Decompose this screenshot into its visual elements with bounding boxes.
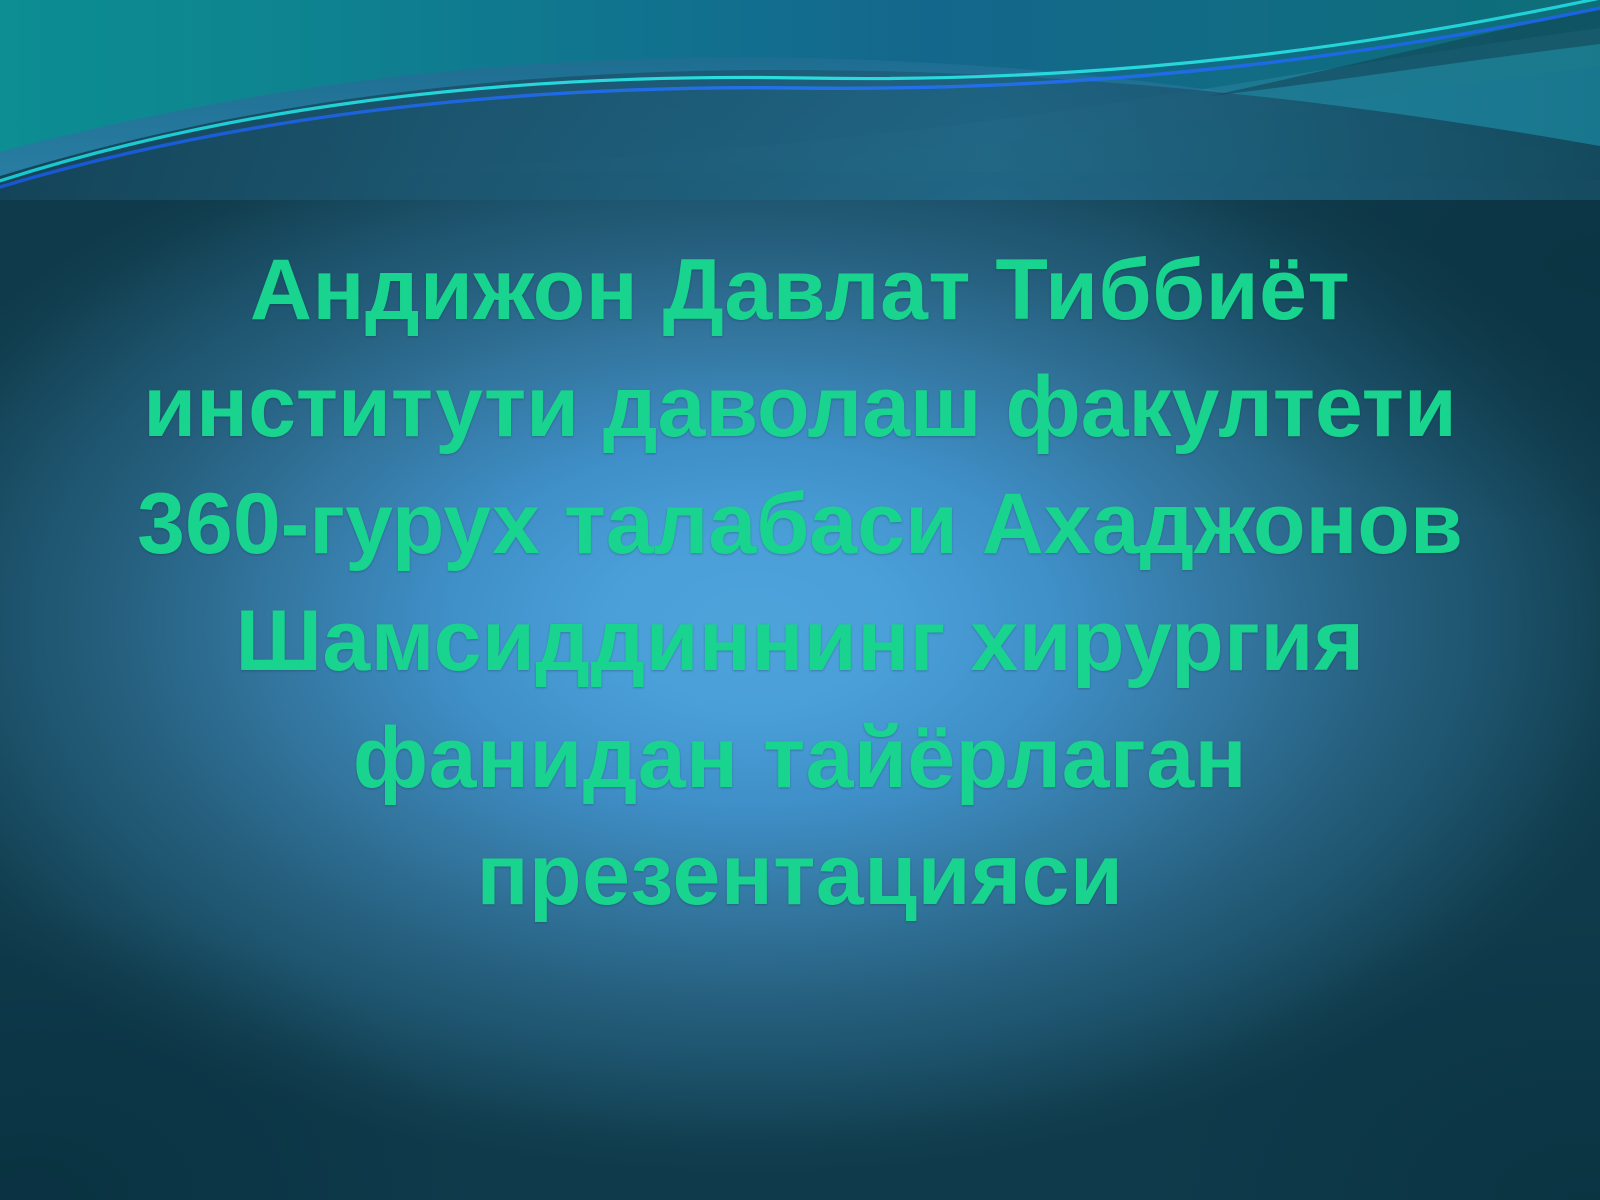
title-line: 360-гурух талабаси Ахаджонов	[64, 466, 1536, 583]
title-line: институти даволаш факултети	[64, 349, 1536, 466]
presentation-slide: Андижон Давлат Тиббиёт институти даволаш…	[0, 0, 1600, 1200]
flow-wave-banner	[0, 0, 1600, 200]
title-line: презентацияси	[64, 817, 1536, 934]
title-line: Андижон Давлат Тиббиёт	[64, 232, 1536, 349]
title-line: фанидан тайёрлаган	[64, 700, 1536, 817]
slide-title: Андижон Давлат Тиббиёт институти даволаш…	[0, 232, 1600, 934]
title-line: Шамсиддиннинг хирургия	[64, 583, 1536, 700]
